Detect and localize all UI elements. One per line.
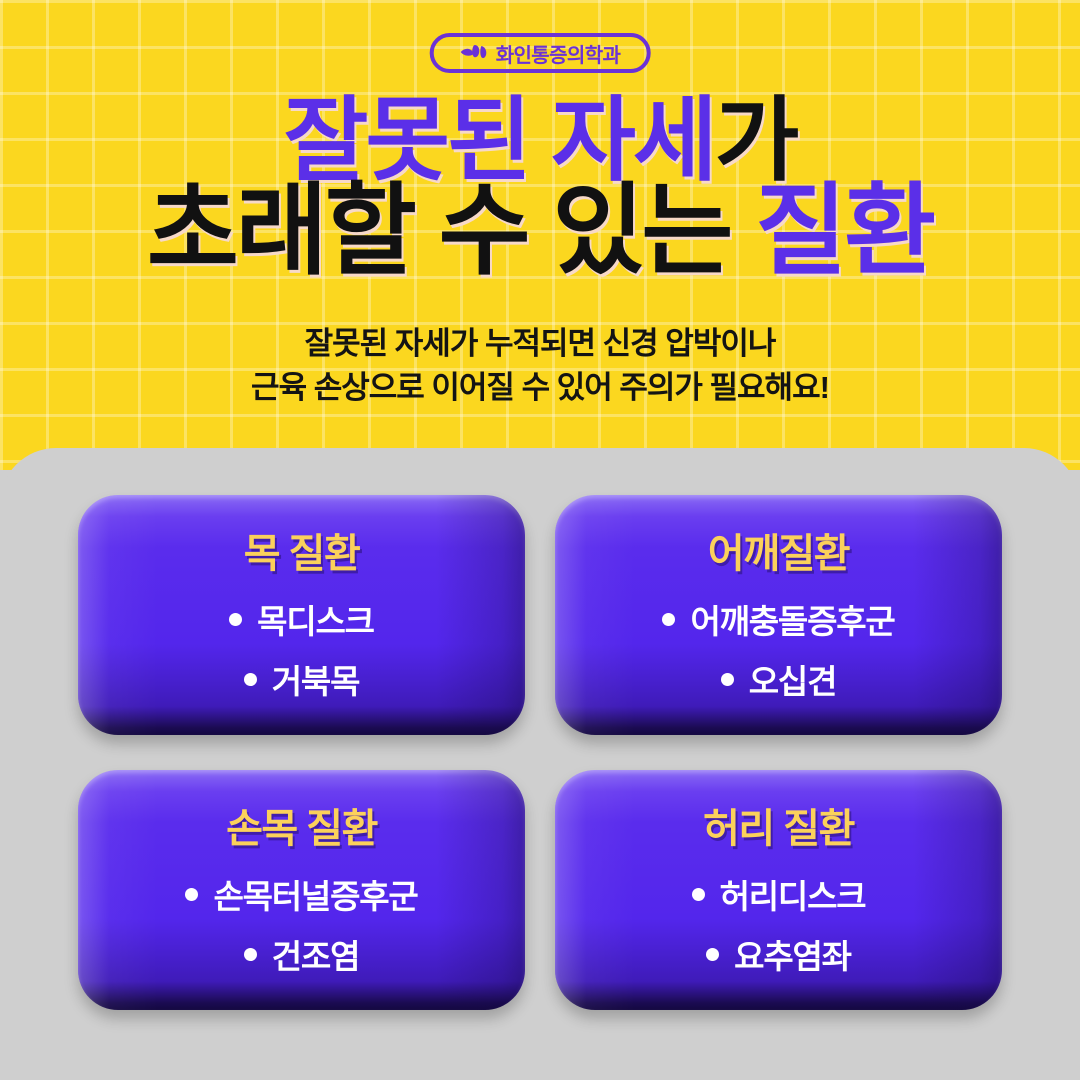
leaf-logo-icon [460,43,490,63]
card-shoulder-title: 어깨질환 [555,521,1002,579]
list-item-label: 오십견 [749,655,836,703]
list-item-label: 손목터널증후군 [213,870,417,918]
list-item-label: 목디스크 [257,595,374,643]
subtitle-line-1: 잘못된 자세가 누적되면 신경 압박이나 [0,322,1080,366]
list-item-label: 요추염좌 [734,930,851,978]
list-item-label: 어깨충돌증후군 [690,595,894,643]
card-lowerback-title: 허리 질환 [555,796,1002,854]
card-wrist-list: 손목터널증후군 건조염 [78,870,525,978]
card-lowerback-list: 허리디스크 요추염좌 [555,870,1002,978]
list-item: 목디스크 [229,595,374,643]
brand-badge-label: 화인통증의학과 [496,39,621,68]
list-item: 허리디스크 [692,870,866,918]
bullet-icon [706,948,719,961]
list-item-label: 허리디스크 [720,870,866,918]
page-subtitle: 잘못된 자세가 누적되면 신경 압박이나 근육 손상으로 이어질 수 있어 주의… [0,322,1080,410]
headline-line-2: 초래할 수 있는 질환 [0,182,1080,280]
bullet-icon [185,888,198,901]
card-shoulder-list: 어깨충돌증후군 오십견 [555,595,1002,703]
brand-badge[interactable]: 화인통증의학과 [430,33,651,73]
bullet-icon [721,673,734,686]
card-wrist[interactable]: 손목 질환 손목터널증후군 건조염 [78,770,525,1010]
disease-card-grid: 목 질환 목디스크 거북목 어깨질환 어깨충돌증후군 오십견 손목 질환 손목터… [78,495,1002,1010]
bullet-icon [662,613,675,626]
headline-line-2-black: 초래할 수 있는 [147,175,755,287]
bullet-icon [229,613,242,626]
list-item-label: 거북목 [272,655,359,703]
card-wrist-title: 손목 질환 [78,796,525,854]
card-lowerback[interactable]: 허리 질환 허리디스크 요추염좌 [555,770,1002,1010]
list-item: 손목터널증후군 [185,870,417,918]
card-neck[interactable]: 목 질환 목디스크 거북목 [78,495,525,735]
list-item-label: 건조염 [272,930,359,978]
bullet-icon [244,948,257,961]
page-title: 잘못된 자세가 초래할 수 있는 질환 [0,96,1080,280]
card-neck-list: 목디스크 거북목 [78,595,525,703]
poster-root: 화인통증의학과 잘못된 자세가 초래할 수 있는 질환 잘못된 자세가 누적되면… [0,0,1080,1080]
headline-line-2-purple: 질환 [755,175,933,287]
card-shoulder[interactable]: 어깨질환 어깨충돌증후군 오십견 [555,495,1002,735]
headline-line-1: 잘못된 자세가 [0,96,1080,186]
list-item: 거북목 [244,655,359,703]
list-item: 건조염 [244,930,359,978]
list-item: 어깨충돌증후군 [662,595,894,643]
list-item: 오십견 [721,655,836,703]
bullet-icon [692,888,705,901]
card-neck-title: 목 질환 [78,521,525,579]
list-item: 요추염좌 [706,930,851,978]
bullet-icon [244,673,257,686]
subtitle-line-2: 근육 손상으로 이어질 수 있어 주의가 필요해요! [0,366,1080,410]
